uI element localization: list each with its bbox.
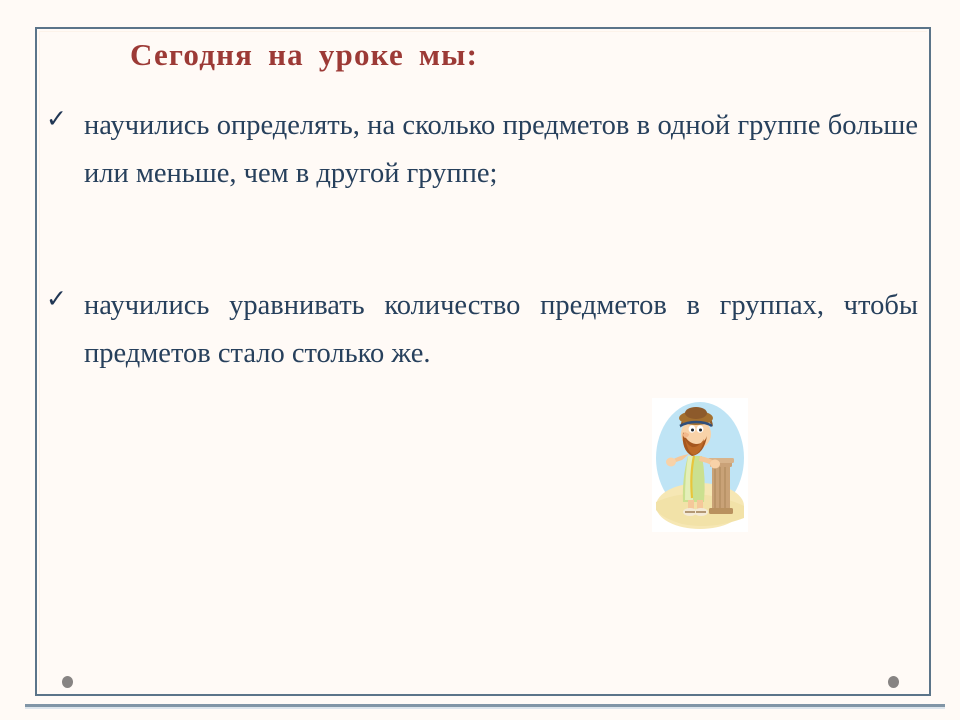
check-mark-icon: ✓ (46, 282, 84, 311)
decorative-dot-right (888, 676, 899, 688)
list-item: ✓ научились определять, на сколько предм… (46, 102, 918, 198)
list-item-text: научились уравнивать количество предмето… (84, 282, 918, 378)
bottom-rule-shadow (25, 707, 945, 709)
cartoon-greek-philosopher-image (652, 398, 748, 532)
list-item: ✓ научились уравнивать количество предме… (46, 282, 918, 378)
decorative-dot-left (62, 676, 73, 688)
list-item-text: научились определять, на сколько предмет… (84, 102, 918, 198)
slide: Сегодня на уроке мы: ✓ научились определ… (0, 0, 960, 720)
check-mark-icon: ✓ (46, 102, 84, 131)
bullet-list: ✓ научились определять, на сколько предм… (46, 102, 918, 378)
page-title: Сегодня на уроке мы: (130, 37, 690, 73)
